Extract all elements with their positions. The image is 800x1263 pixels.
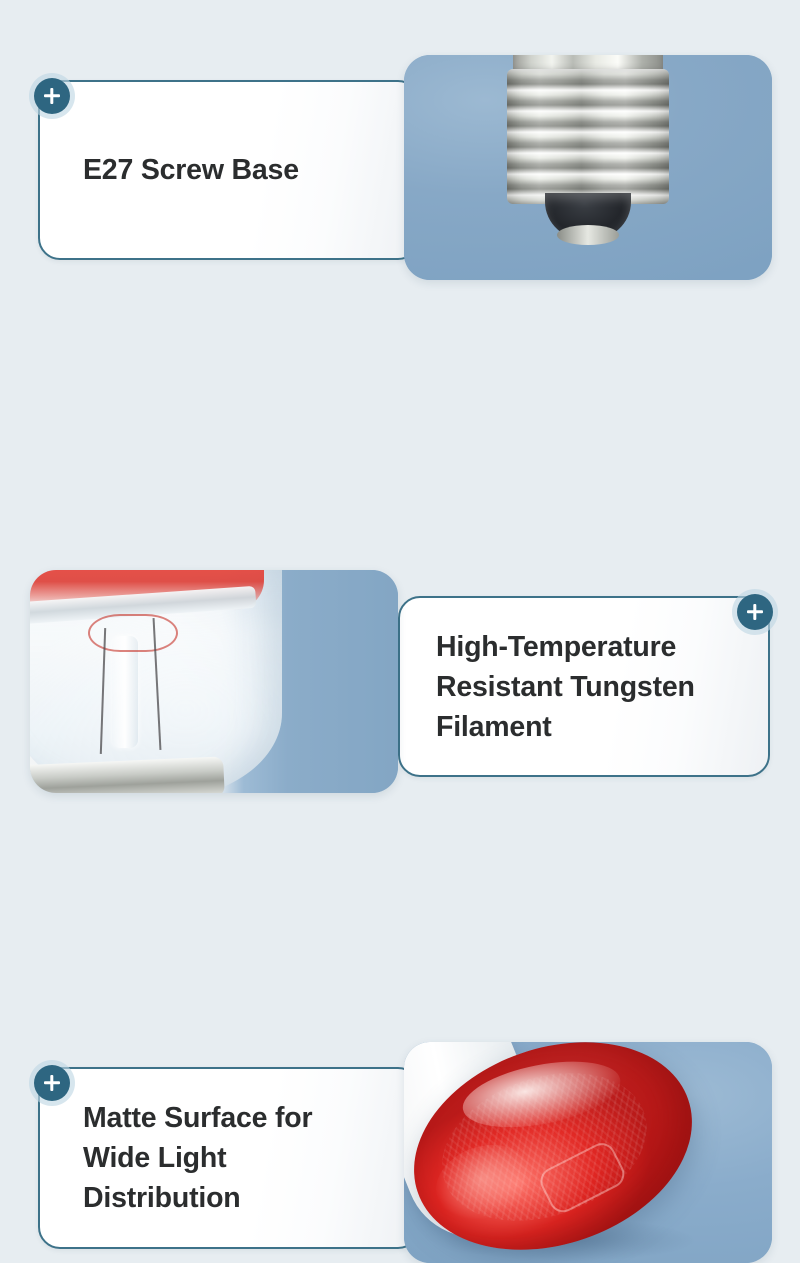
- feature-card-tungsten-filament[interactable]: High-Temperature Resistant Tungsten Fila…: [398, 596, 770, 777]
- feature-title: High-Temperature Resistant Tungsten Fila…: [400, 627, 695, 747]
- plus-icon[interactable]: [34, 78, 70, 114]
- contact-tip: [545, 193, 631, 241]
- e27-screw-base-photo: [404, 55, 772, 280]
- plus-icon[interactable]: [737, 594, 773, 630]
- feature-highlight-page: E27 Screw Base High-Temperature Resistan…: [0, 0, 800, 800]
- plus-icon[interactable]: [34, 1065, 70, 1101]
- stem-post: [112, 636, 138, 748]
- screw-threads: [507, 69, 669, 204]
- feature-card-e27-screw-base[interactable]: E27 Screw Base: [38, 80, 420, 260]
- feature-card-matte-surface[interactable]: Matte Surface for Wide Light Distributio…: [38, 1067, 420, 1249]
- filament-coil: [88, 614, 178, 652]
- tungsten-filament-photo: [30, 570, 398, 793]
- feature-row-tungsten-filament: High-Temperature Resistant Tungsten Fila…: [0, 283, 800, 523]
- feature-title: E27 Screw Base: [40, 150, 299, 190]
- screw-base-illustration: [507, 55, 669, 241]
- feature-title: Matte Surface for Wide Light Distributio…: [40, 1098, 312, 1218]
- red-matte-bulb-photo: [404, 1042, 772, 1263]
- feature-row-e27-screw-base: E27 Screw Base: [0, 0, 800, 290]
